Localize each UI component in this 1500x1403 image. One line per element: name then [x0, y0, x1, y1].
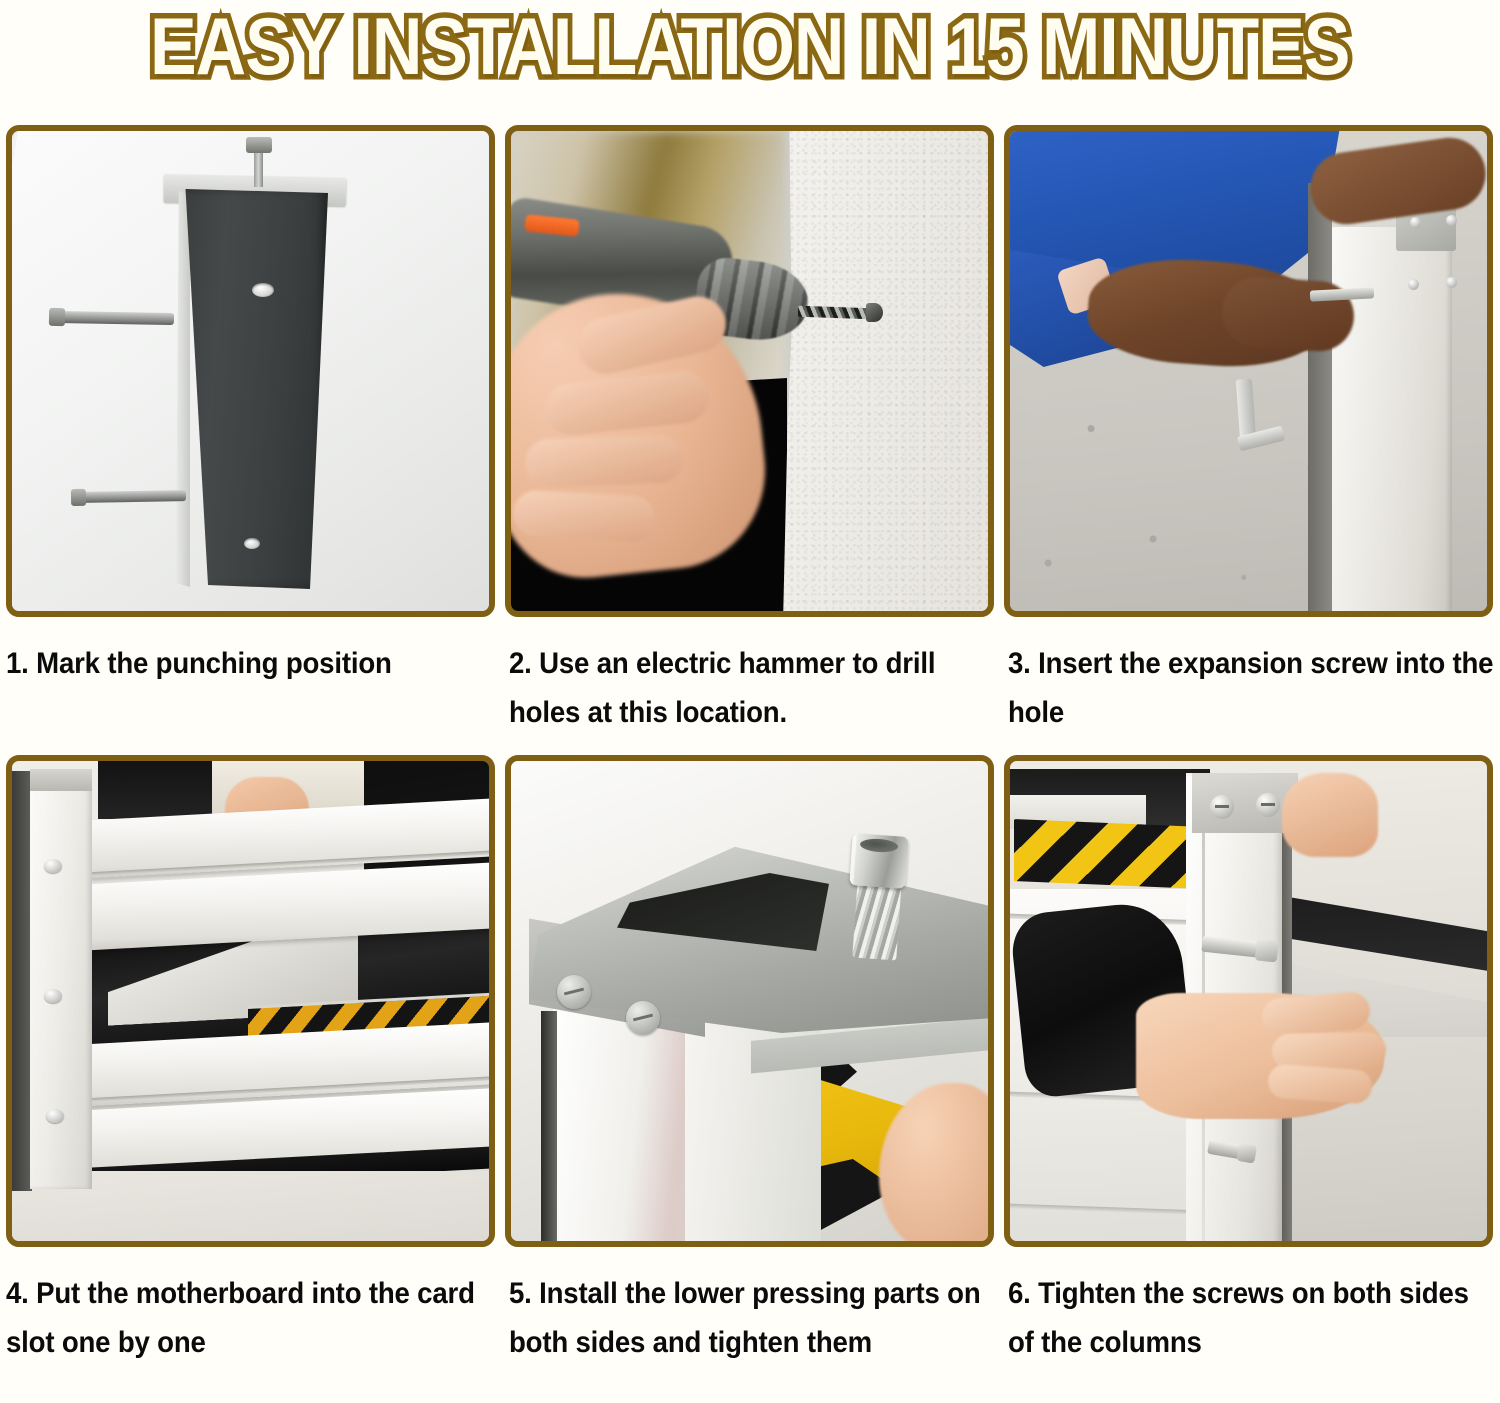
finger-4: [512, 489, 656, 542]
drill-holes-photo: [505, 125, 994, 617]
drill-bit-tip: [866, 303, 883, 322]
worker-fingers: [1220, 274, 1357, 353]
step-card-5: 5. Install the lower pressing parts on b…: [505, 755, 994, 1395]
column-top-screw-1: [1210, 795, 1234, 819]
card-slot-column: [30, 769, 92, 1189]
upper-stud: [56, 311, 174, 325]
title-banner: EASY INSTALLATION IN 15 MINUTES: [0, 0, 1500, 92]
mark-punching-position-photo: [6, 125, 495, 617]
bracket-phillips-screw-1: [557, 975, 591, 1009]
column-top-screw-2: [1256, 793, 1280, 817]
step-caption-4: 4. Put the motherboard into the card slo…: [6, 1269, 495, 1367]
column-screw-1: [44, 859, 62, 873]
textured-white-wall: [783, 131, 988, 611]
step-card-2: 2. Use an electric hammer to drill holes…: [505, 125, 994, 765]
column-cap: [30, 769, 92, 791]
finger-3: [1267, 1063, 1373, 1104]
top-bolt-head: [246, 137, 272, 153]
column-shadow: [1308, 183, 1334, 611]
installation-steps-grid: 1. Mark the punching position: [0, 92, 1500, 1403]
column-shadow: [12, 771, 32, 1191]
lower-stud: [78, 490, 186, 503]
bracket-screw-c: [1408, 279, 1419, 290]
knurled-thumbscrew-head: [849, 833, 908, 889]
second-hand: [1282, 773, 1378, 857]
step-card-4: 4. Put the motherboard into the card slo…: [6, 755, 495, 1395]
finger-3: [524, 434, 684, 487]
step-caption-5: 5. Install the lower pressing parts on b…: [509, 1269, 998, 1367]
upper-mounting-hole: [252, 283, 274, 297]
step-caption-3: 3. Insert the expansion screw into the h…: [1008, 639, 1497, 737]
thumbscrew-thread: [852, 878, 901, 961]
step-caption-2: 2. Use an electric hammer to drill holes…: [509, 639, 998, 737]
step-caption-6: 6. Tighten the screws on both sides of t…: [1008, 1269, 1497, 1367]
step-card-6: 6. Tighten the screws on both sides of t…: [1004, 755, 1493, 1395]
tighten-column-screws-photo: [1004, 755, 1493, 1247]
steps-row-2: 4. Put the motherboard into the card slo…: [0, 755, 1500, 1395]
step-caption-1: 1. Mark the punching position: [6, 639, 495, 688]
hazard-stripe: [1014, 819, 1200, 889]
insert-expansion-screw-photo: [1004, 125, 1493, 617]
column-screw-2: [44, 989, 62, 1003]
step-card-3: 3. Insert the expansion screw into the h…: [1004, 125, 1493, 765]
bracket-phillips-screw-2: [626, 1001, 660, 1035]
lower-mounting-hole: [244, 538, 260, 549]
bracket-screw-a: [1410, 217, 1421, 228]
steps-row-1: 1. Mark the punching position: [0, 125, 1500, 765]
step-card-1: 1. Mark the punching position: [6, 125, 495, 765]
bracket-screw-d: [1446, 277, 1457, 288]
bracket-screw-b: [1446, 215, 1457, 226]
insert-boards-photo: [6, 755, 495, 1247]
install-pressing-parts-photo: [505, 755, 994, 1247]
column-left-shadow: [541, 1011, 557, 1241]
page-title: EASY INSTALLATION IN 15 MINUTES: [150, 6, 1349, 87]
column-screw-3: [46, 1109, 64, 1123]
